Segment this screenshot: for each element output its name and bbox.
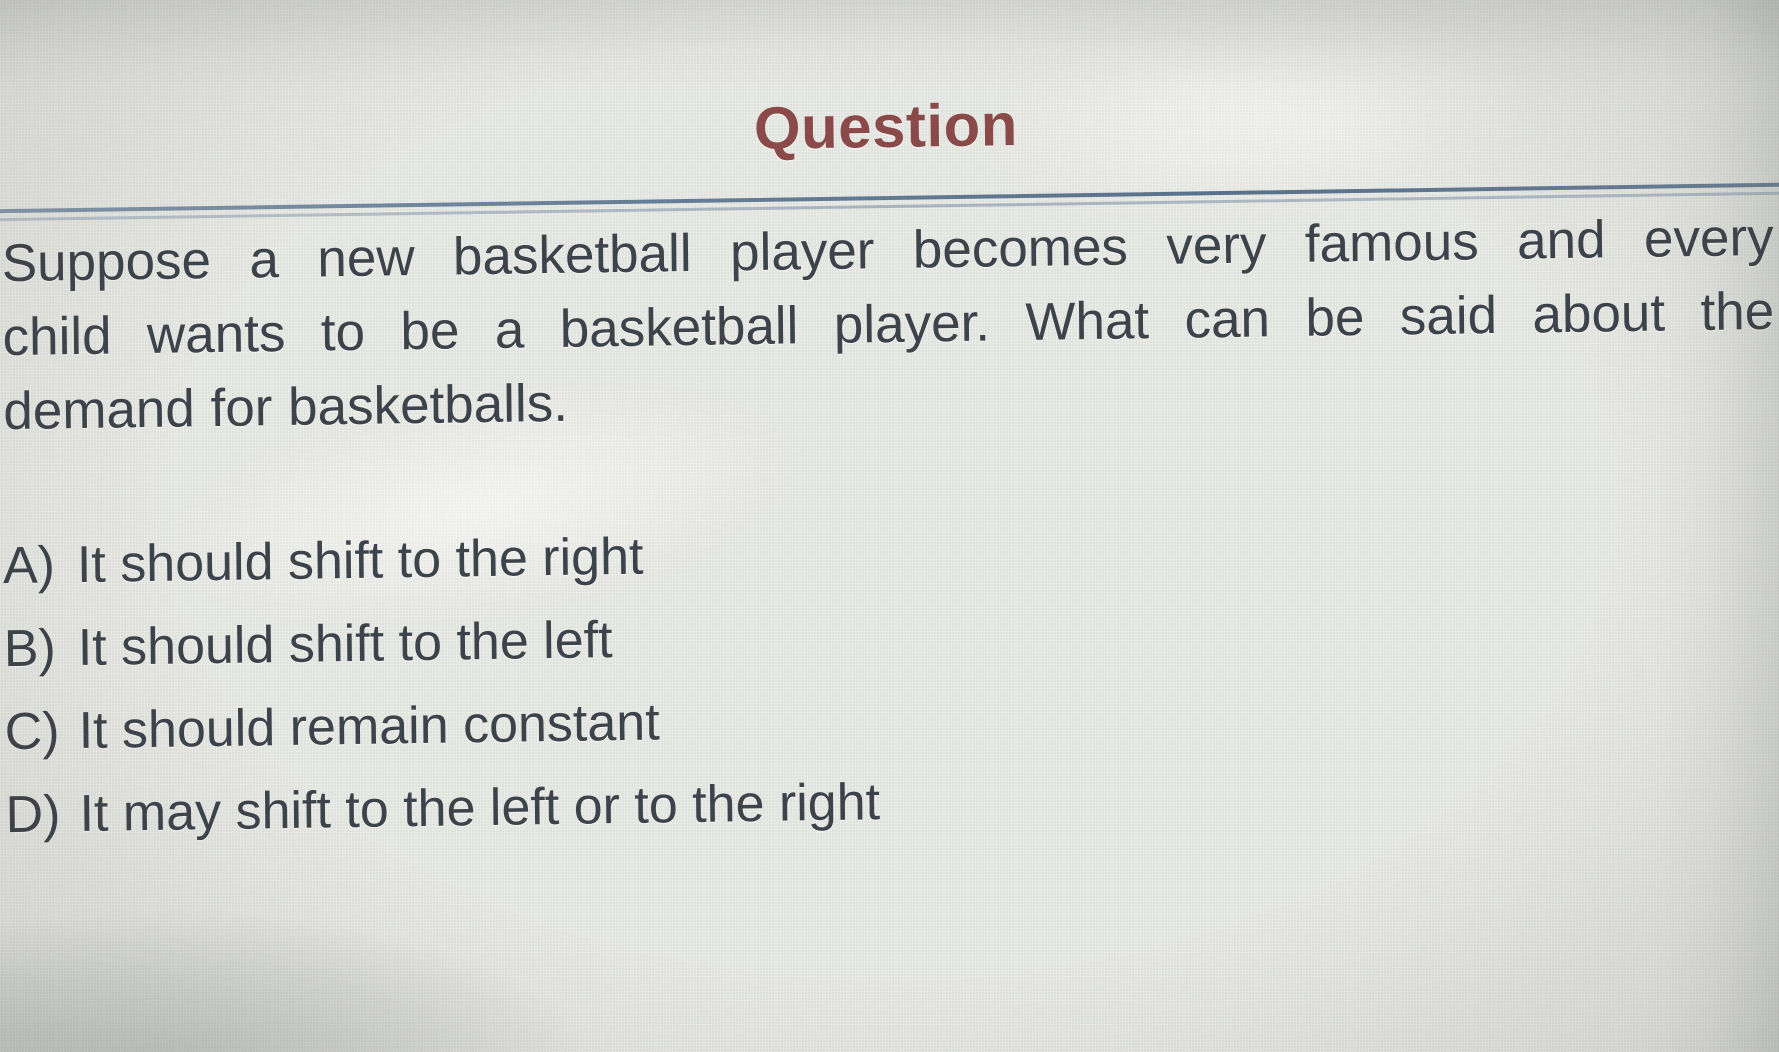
question-word: said xyxy=(1399,279,1497,354)
page-title: Question xyxy=(0,79,1776,174)
question-text: Supposeanewbasketballplayerbecomesveryfa… xyxy=(1,201,1775,449)
question-word: very xyxy=(1166,208,1267,283)
answer-option-c-letter: C) xyxy=(4,690,79,774)
question-word: new xyxy=(317,221,415,296)
slide-content: Question Supposeanewbasketballplayerbeco… xyxy=(0,0,1779,1052)
question-word: be xyxy=(1305,281,1365,356)
question-word: player. xyxy=(833,286,990,362)
question-word: about xyxy=(1532,276,1665,352)
question-word: every xyxy=(1644,201,1774,277)
answer-option-a-text: It should shift to the right xyxy=(76,516,643,607)
question-word: and xyxy=(1517,203,1606,278)
question-word: be xyxy=(400,294,460,369)
question-word: becomes xyxy=(912,210,1128,287)
question-word: can xyxy=(1184,282,1270,357)
question-word: What xyxy=(1025,284,1149,360)
answer-option-c-text: It should remain constant xyxy=(78,681,660,773)
slide-photo: Question Supposeanewbasketballplayerbeco… xyxy=(0,0,1779,1052)
answer-option-d-text: It may shift to the left or to the right xyxy=(79,761,880,856)
question-word: a xyxy=(249,223,279,297)
question-word: wants xyxy=(147,297,286,373)
answer-options-list: A) It should shift to the right B) It sh… xyxy=(3,504,1406,857)
answer-option-a-letter: A) xyxy=(3,524,78,608)
question-word: basketball xyxy=(559,289,798,367)
answer-option-b-text: It should shift to the left xyxy=(77,599,613,690)
question-word: to xyxy=(320,296,365,371)
question-word: child xyxy=(2,300,112,376)
answer-option-b-letter: B) xyxy=(3,607,78,691)
question-word: Suppose xyxy=(1,224,211,301)
question-word: famous xyxy=(1304,205,1479,282)
answer-option-d-letter: D) xyxy=(5,773,80,857)
question-word: the xyxy=(1700,275,1774,350)
question-word: a xyxy=(494,293,524,367)
question-word: basketball xyxy=(453,217,692,295)
question-word: player xyxy=(730,214,875,290)
